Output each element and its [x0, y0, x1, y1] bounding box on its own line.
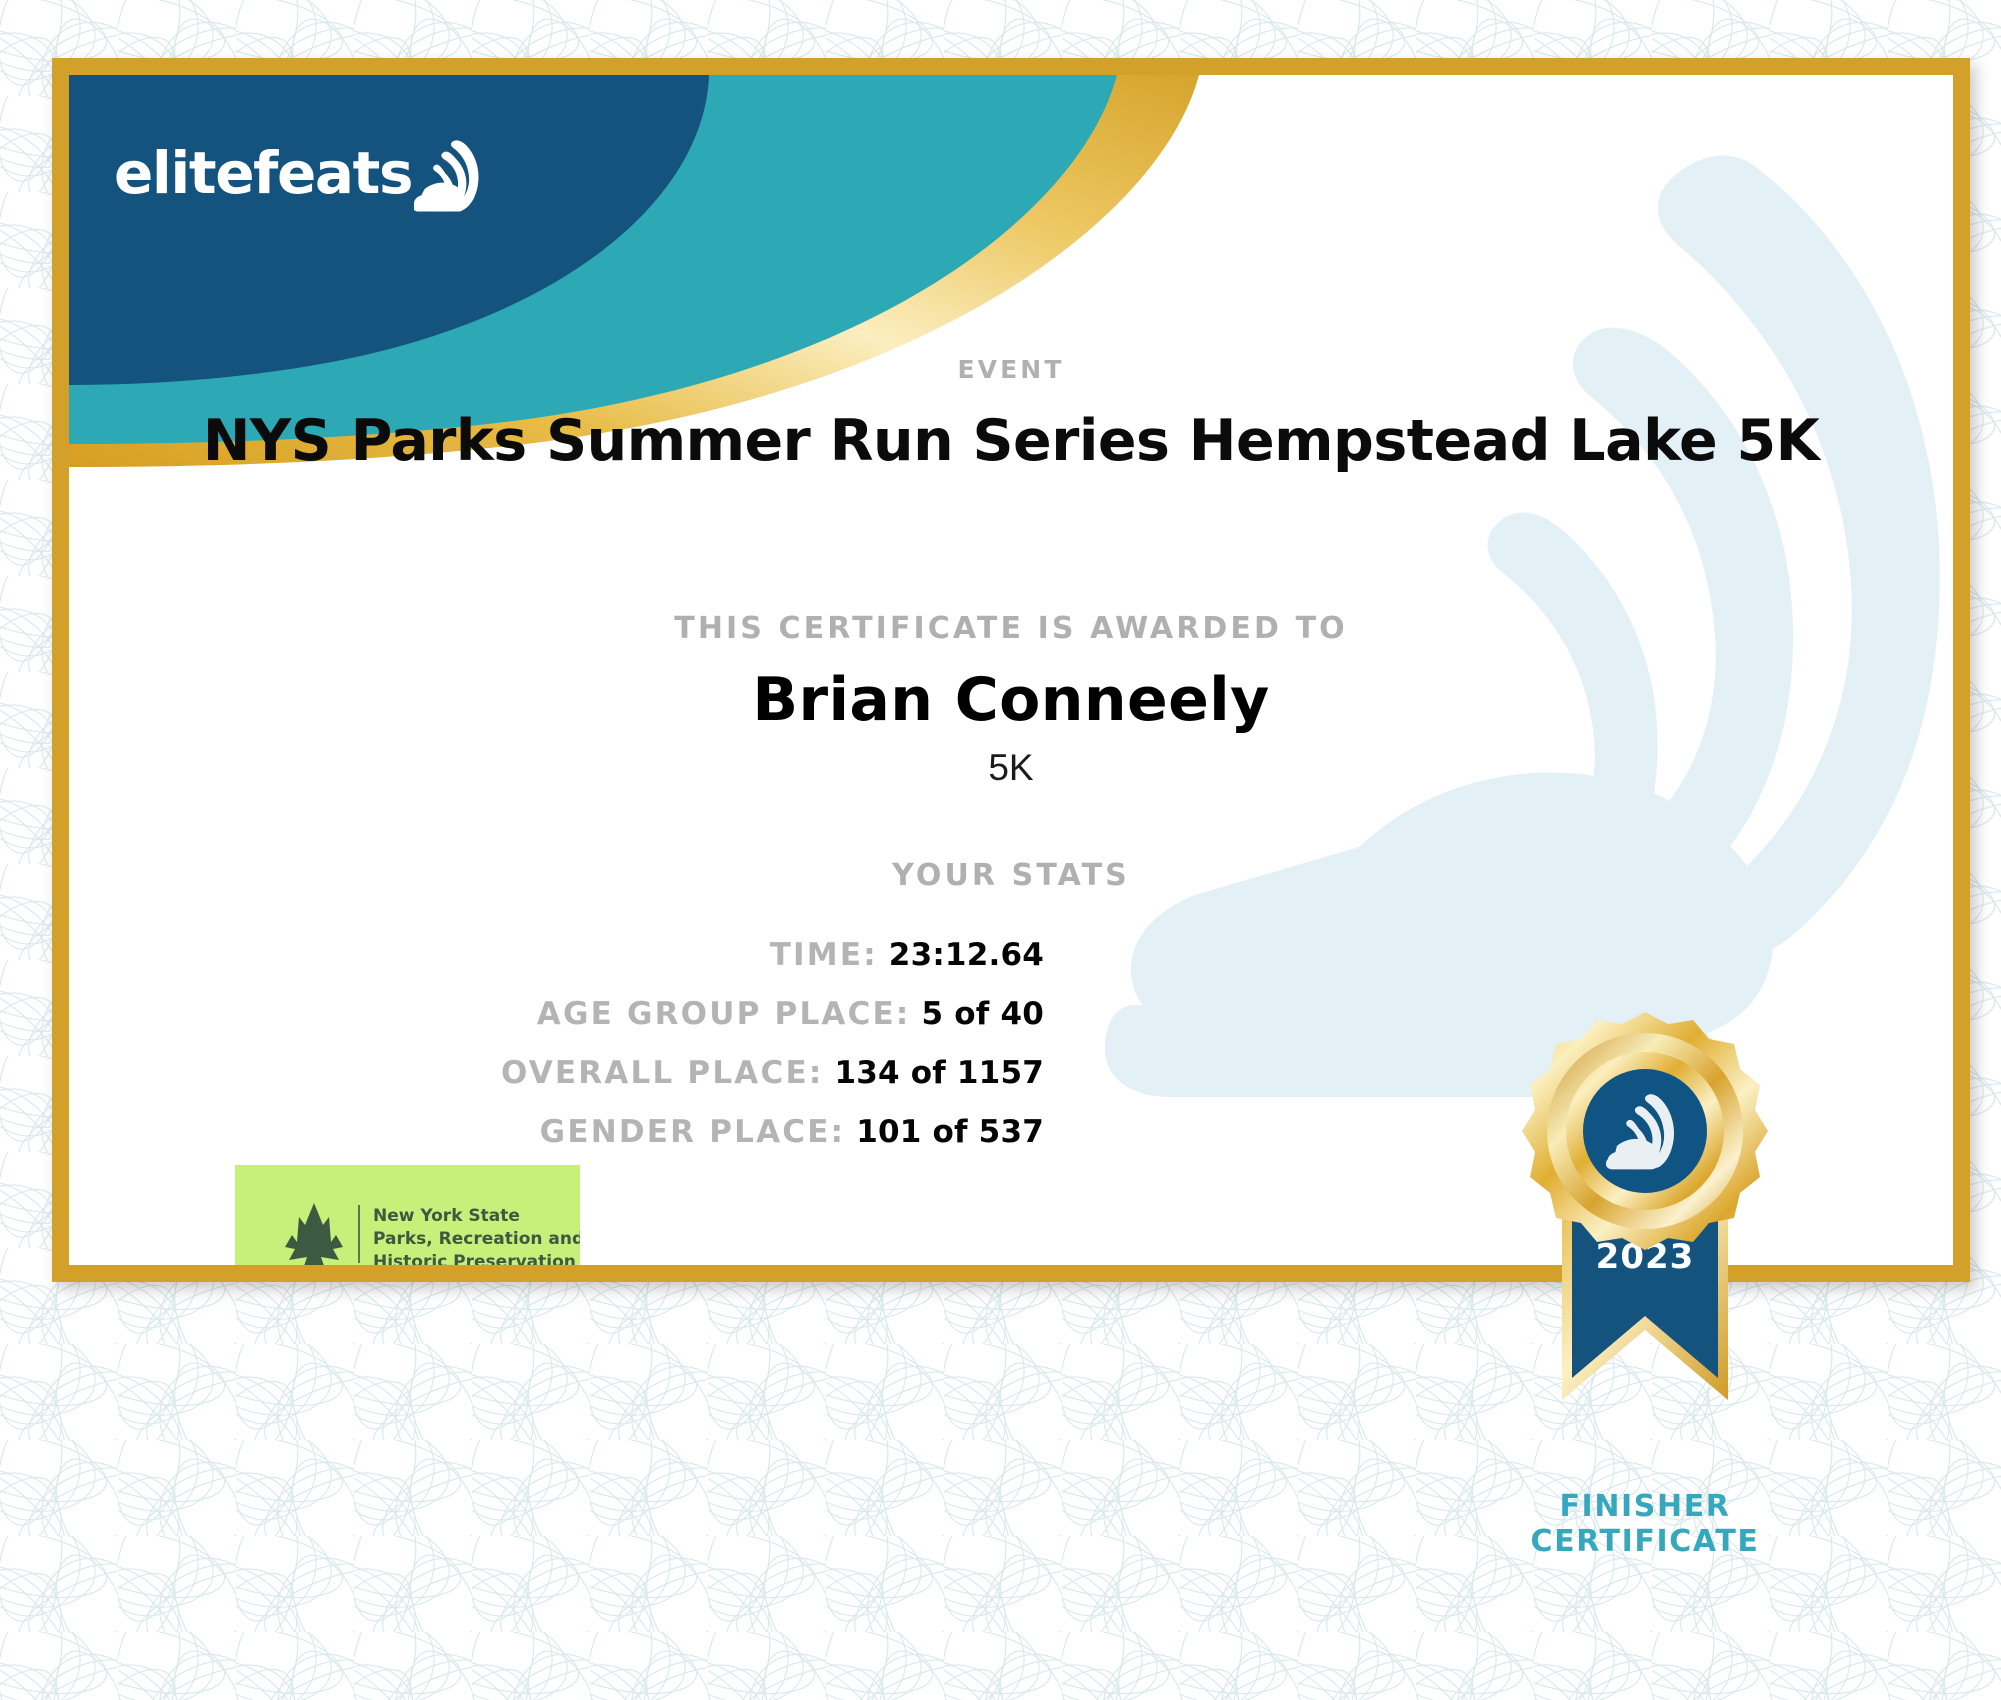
stat-row-overall-place: OVERALL PLACE: 134 of 1157	[399, 1055, 1044, 1091]
stat-value: 23:12.64	[889, 937, 1044, 973]
recipient-name: Brian Conneely	[69, 665, 1953, 735]
medal-caption: FINISHER CERTIFICATE	[1465, 1490, 1825, 1559]
finisher-medal: 2023	[1500, 1000, 1790, 1490]
stat-label: GENDER PLACE:	[540, 1114, 846, 1150]
stat-row-age-group-place: AGE GROUP PLACE: 5 of 40	[399, 996, 1044, 1032]
medal-caption-line1: FINISHER	[1465, 1490, 1825, 1525]
event-title: NYS Parks Summer Run Series Hempstead La…	[69, 408, 1953, 474]
stat-row-gender-place: GENDER PLACE: 101 of 537	[399, 1114, 1044, 1150]
medal-caption-line2: CERTIFICATE	[1465, 1525, 1825, 1560]
stat-value: 5 of 40	[922, 996, 1044, 1032]
your-stats-label: YOUR STATS	[69, 858, 1953, 893]
medal-disc	[1522, 1012, 1768, 1250]
stat-label: OVERALL PLACE:	[501, 1055, 823, 1091]
stats-list: TIME: 23:12.64 AGE GROUP PLACE: 5 of 40 …	[399, 937, 1044, 1173]
race-distance: 5K	[69, 747, 1953, 789]
sponsor-agency-line1: New York State	[373, 1206, 520, 1226]
sponsor-agency-line2: Parks, Recreation and	[373, 1229, 580, 1249]
event-label: EVENT	[69, 355, 1953, 384]
stat-label: AGE GROUP PLACE:	[537, 996, 911, 1032]
stat-row-time: TIME: 23:12.64	[399, 937, 1044, 973]
certificate-page: elitefeats EVENT NYS Parks Summer Run Se…	[0, 0, 2001, 1700]
sponsor-agency-line3: Historic Preservation	[373, 1252, 576, 1265]
stat-label: TIME:	[770, 937, 878, 973]
stat-value: 101 of 537	[856, 1114, 1044, 1150]
awarded-to-label: THIS CERTIFICATE IS AWARDED TO	[69, 611, 1953, 646]
sponsor-logo: New York State Parks, Recreation and His…	[235, 1165, 580, 1265]
stat-value: 134 of 1157	[834, 1055, 1044, 1091]
